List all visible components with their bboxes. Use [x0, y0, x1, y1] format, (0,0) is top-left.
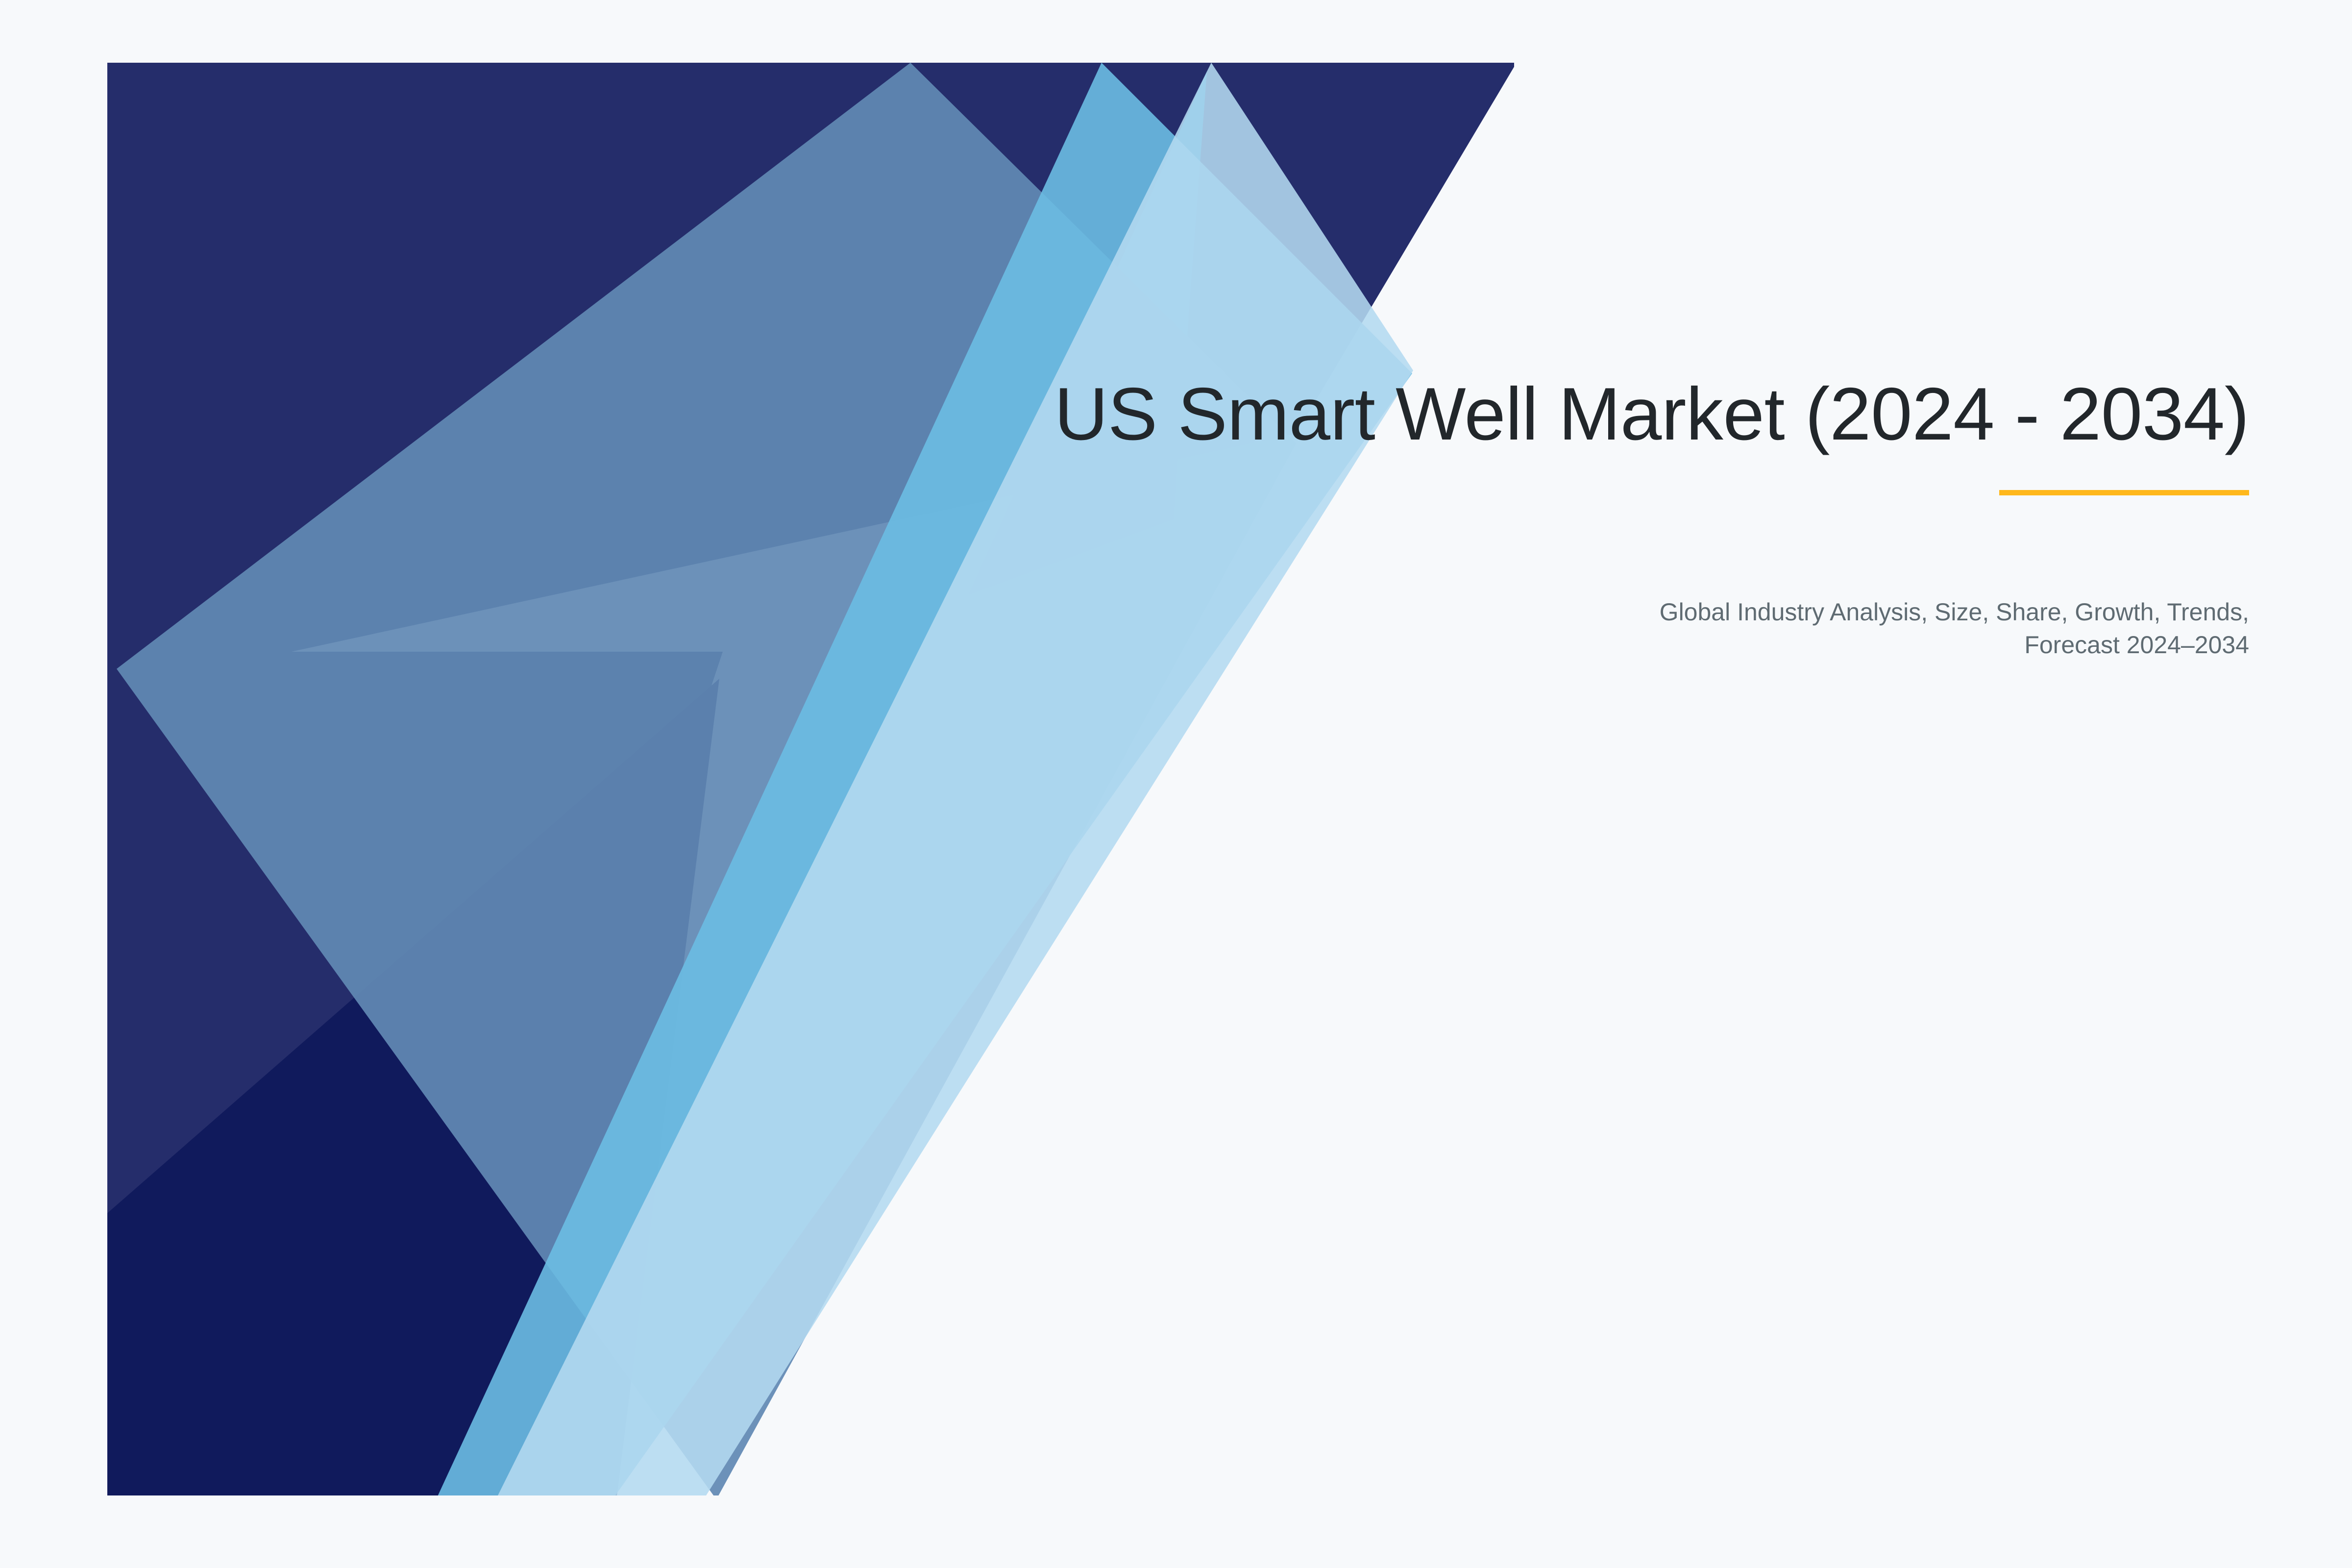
cover-text-block: US Smart Well Market (2024 - 2034) Globa… — [735, 372, 2249, 661]
accent-rule-container — [735, 490, 2249, 495]
page-title: US Smart Well Market (2024 - 2034) — [735, 372, 2249, 456]
accent-rule — [1999, 490, 2249, 495]
abstract-geometric-artwork — [0, 0, 2352, 1568]
page-subtitle: Global Industry Analysis, Size, Share, G… — [1617, 495, 2249, 661]
cover-slide: US Smart Well Market (2024 - 2034) Globa… — [0, 0, 2352, 1568]
